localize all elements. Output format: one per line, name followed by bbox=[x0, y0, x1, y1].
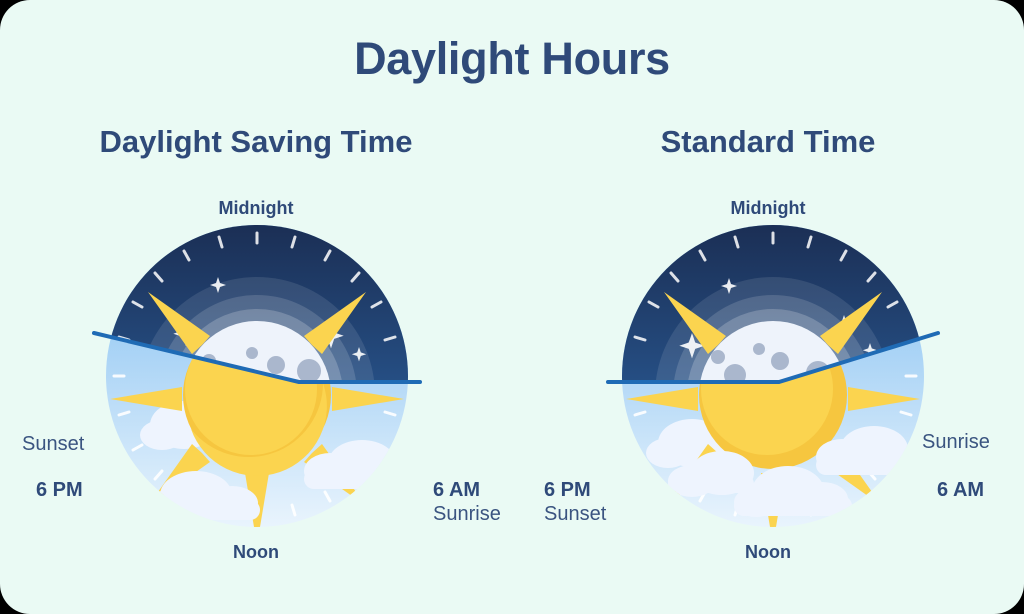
page-title: Daylight Hours bbox=[0, 33, 1024, 85]
dial-daylight-saving-time bbox=[106, 225, 408, 527]
6am-text: 6 AM bbox=[937, 478, 984, 502]
sunset-text: Sunset bbox=[544, 502, 606, 526]
6pm-text: 6 PM bbox=[36, 478, 83, 502]
dial-label-noon: Noon bbox=[512, 542, 1024, 563]
daylight-hours-infographic: Daylight Hours Daylight Saving Time Midn… bbox=[0, 0, 1024, 614]
label-6pm-left: 6 PM bbox=[36, 478, 83, 502]
dial-label-midnight: Midnight bbox=[0, 198, 512, 219]
sunset-text: Sunset bbox=[22, 432, 84, 456]
panel-standard-time: Standard Time Midnight Noon bbox=[512, 110, 1024, 614]
6am-text: 6 AM bbox=[433, 478, 501, 502]
dial-standard-time bbox=[622, 225, 924, 527]
panel-title: Standard Time bbox=[512, 124, 1024, 160]
label-sunset-left: Sunset bbox=[22, 432, 84, 456]
dial-label-noon: Noon bbox=[0, 542, 512, 563]
panel-title: Daylight Saving Time bbox=[0, 124, 512, 160]
sunrise-text: Sunrise bbox=[922, 430, 990, 454]
dial-svg bbox=[622, 225, 924, 527]
label-6pm-sunset-left: 6 PM Sunset bbox=[544, 478, 606, 526]
dial-label-midnight: Midnight bbox=[512, 198, 1024, 219]
label-sunrise-right: Sunrise bbox=[922, 430, 990, 454]
label-6am-right: 6 AM bbox=[937, 478, 984, 502]
label-6am-sunrise-right: 6 AM Sunrise bbox=[433, 478, 501, 526]
dial-svg bbox=[106, 225, 408, 527]
panel-daylight-saving-time: Daylight Saving Time Midnight Noon bbox=[0, 110, 512, 614]
sunrise-text: Sunrise bbox=[433, 502, 501, 526]
dial-disc bbox=[106, 225, 414, 545]
6pm-text: 6 PM bbox=[544, 478, 606, 502]
dial-disc bbox=[622, 225, 928, 545]
